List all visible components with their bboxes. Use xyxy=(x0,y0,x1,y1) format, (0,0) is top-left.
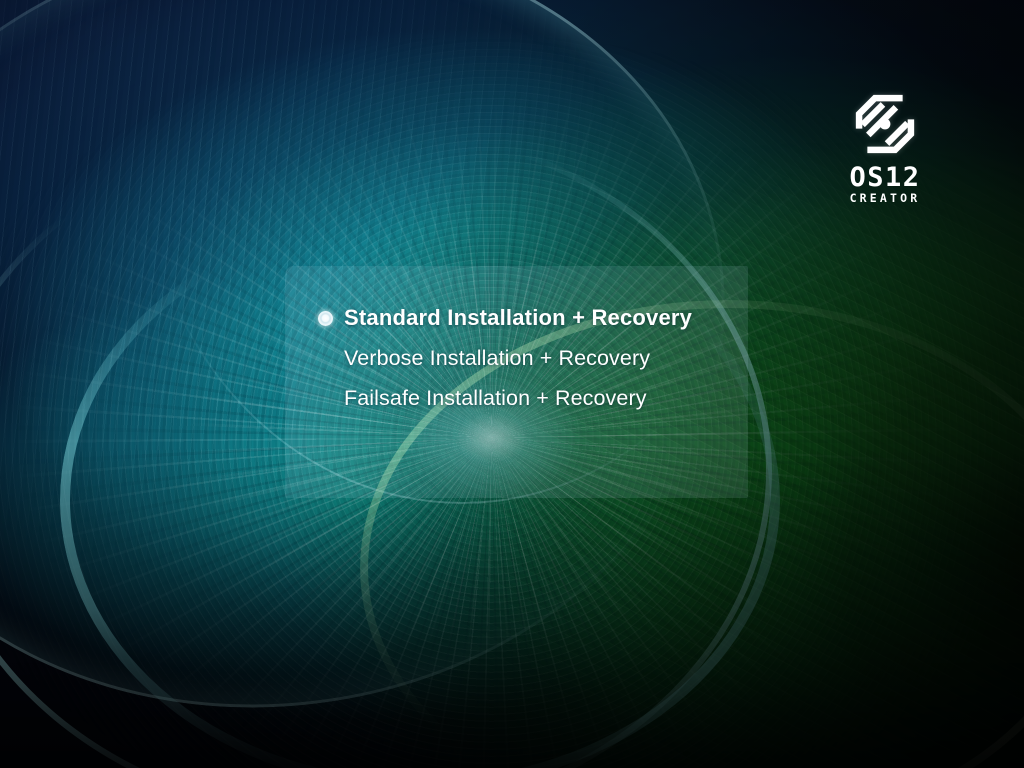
boot-menu-list: Standard Installation + Recovery Verbose… xyxy=(318,298,738,418)
selection-indicator-slot xyxy=(318,308,344,328)
menu-item-failsafe-installation[interactable]: Failsafe Installation + Recovery xyxy=(318,378,738,418)
boot-menu-screen: Standard Installation + Recovery Verbose… xyxy=(0,0,1024,768)
selection-indicator-slot xyxy=(318,348,344,368)
radio-selected-icon xyxy=(318,311,333,326)
brand-name: OS12 xyxy=(832,164,938,191)
menu-item-standard-installation[interactable]: Standard Installation + Recovery xyxy=(318,298,738,338)
selection-indicator-slot xyxy=(318,388,344,408)
menu-item-label: Failsafe Installation + Recovery xyxy=(344,386,647,411)
menu-item-verbose-installation[interactable]: Verbose Installation + Recovery xyxy=(318,338,738,378)
menu-item-label: Verbose Installation + Recovery xyxy=(344,346,650,371)
os12-interlock-logo-icon xyxy=(849,88,921,160)
menu-item-label: Standard Installation + Recovery xyxy=(344,305,692,331)
brand-tagline: CREATOR xyxy=(832,193,938,205)
brand-logo: OS12 CREATOR xyxy=(832,88,938,205)
